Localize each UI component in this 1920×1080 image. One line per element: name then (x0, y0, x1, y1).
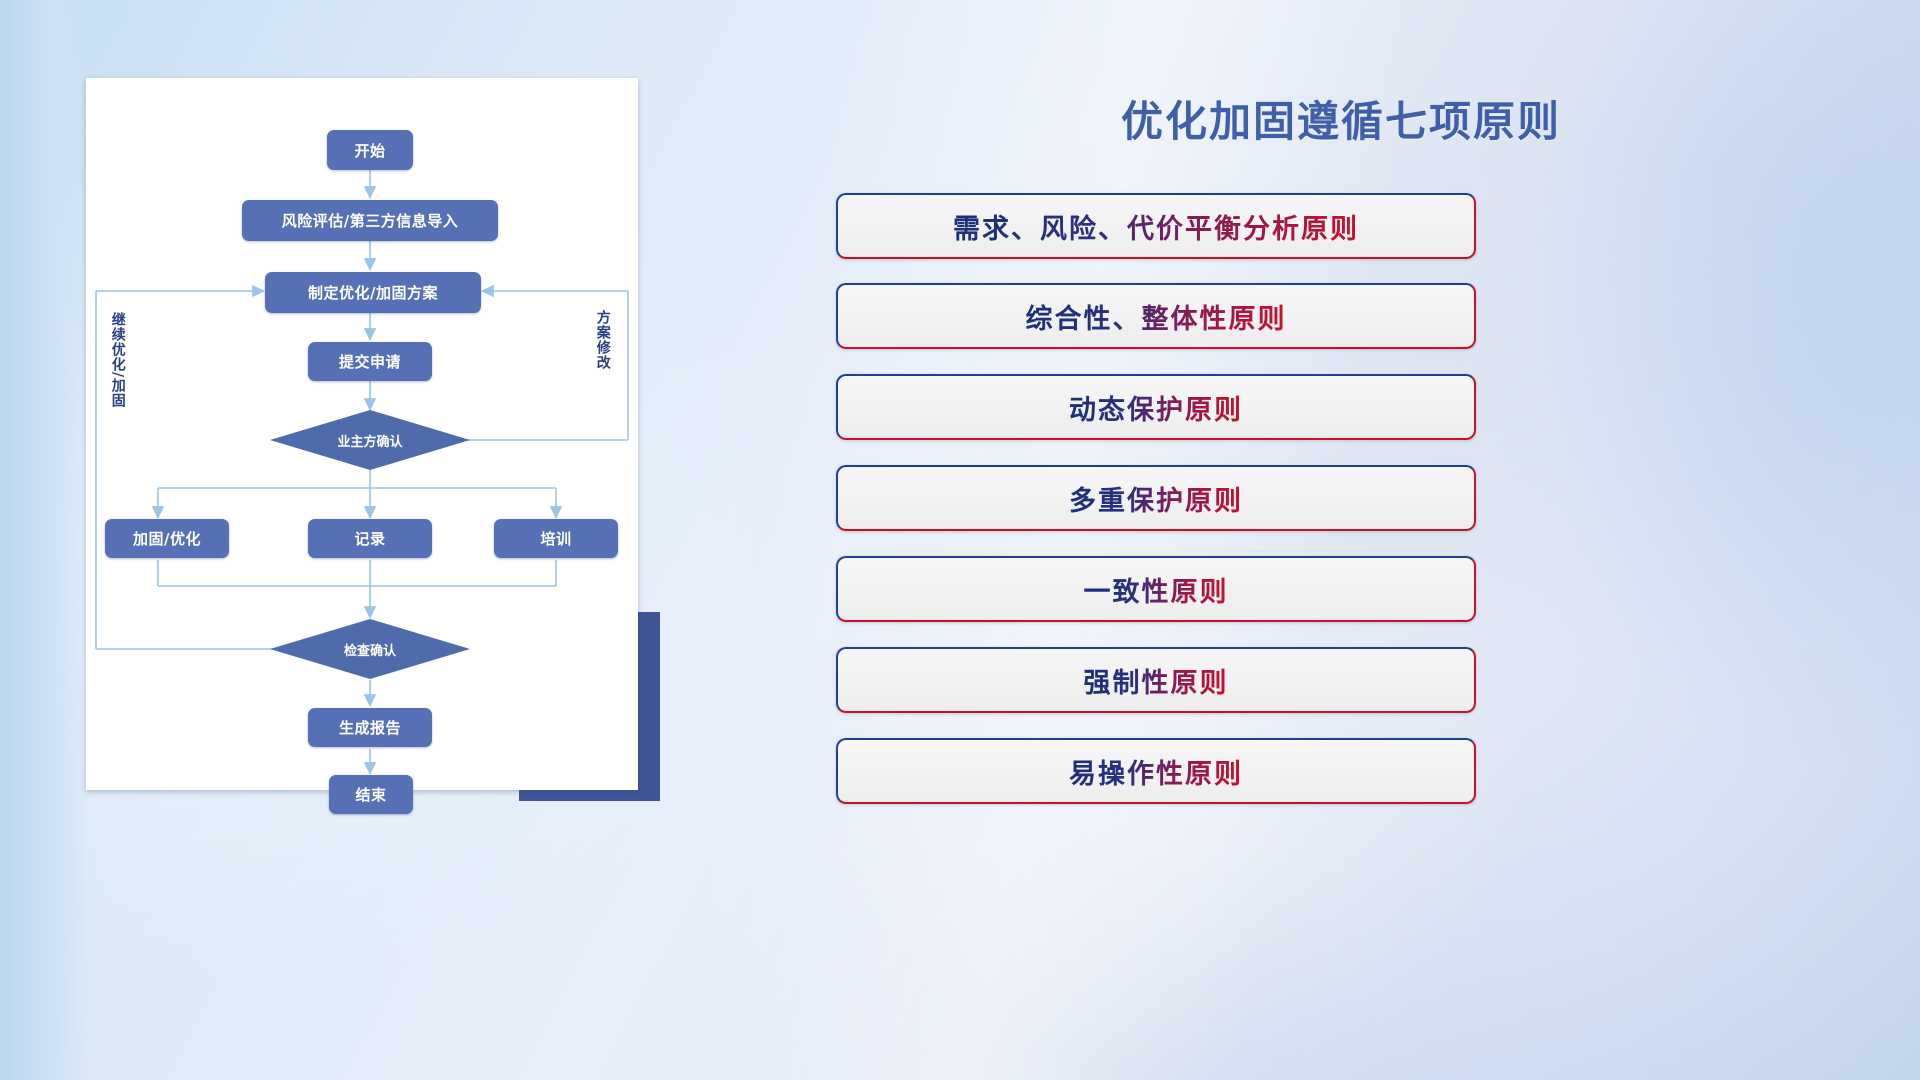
background-left-edge (0, 0, 90, 1080)
principles-panel: 优化加固遵循七项原则 需求、风险、代价平衡分析原则 综合性、整体性原则 动态保护… (836, 78, 1846, 1008)
flow-node-risk-assessment[interactable]: 风险评估/第三方信息导入 (242, 200, 498, 241)
flow-node-start[interactable]: 开始 (327, 130, 413, 170)
flow-node-label: 培训 (540, 528, 571, 549)
principle-label: 动态保护原则 (1069, 388, 1243, 427)
flow-node-label: 检查确认 (270, 619, 470, 679)
principle-item-1[interactable]: 需求、风险、代价平衡分析原则 (836, 193, 1476, 259)
flow-decision-inspection-confirm[interactable]: 检查确认 (270, 619, 470, 679)
flow-node-training[interactable]: 培训 (494, 519, 618, 558)
flow-node-generate-report[interactable]: 生成报告 (308, 708, 432, 747)
flow-node-record[interactable]: 记录 (308, 519, 432, 558)
principle-label: 易操作性原则 (1069, 752, 1243, 791)
principle-item-5[interactable]: 一致性原则 (836, 556, 1476, 622)
principle-label: 需求、风险、代价平衡分析原则 (953, 207, 1359, 246)
panel-title: 优化加固遵循七项原则 (836, 88, 1846, 149)
flow-node-end[interactable]: 结束 (329, 775, 413, 814)
flow-node-label: 提交申请 (339, 351, 401, 372)
principle-item-6[interactable]: 强制性原则 (836, 647, 1476, 713)
principle-item-4[interactable]: 多重保护原则 (836, 465, 1476, 531)
flowchart-card: 开始 风险评估/第三方信息导入 制定优化/加固方案 提交申请 业主方确认 加固/… (86, 78, 638, 790)
flow-node-submit-application[interactable]: 提交申请 (308, 342, 432, 381)
principle-label: 多重保护原则 (1069, 479, 1243, 518)
flow-node-label: 结束 (355, 784, 386, 805)
principle-label: 一致性原则 (1084, 570, 1229, 609)
flow-edge-label-plan-revision: 方案修改 (595, 310, 610, 420)
flow-node-make-plan[interactable]: 制定优化/加固方案 (265, 272, 481, 313)
flow-node-reinforce-optimize[interactable]: 加固/优化 (105, 519, 229, 558)
flow-node-label: 业主方确认 (270, 410, 470, 470)
flow-decision-owner-confirm[interactable]: 业主方确认 (270, 410, 470, 470)
flow-node-label: 加固/优化 (133, 528, 201, 549)
principle-item-7[interactable]: 易操作性原则 (836, 738, 1476, 804)
flow-edge-label-continue-optimize: 继续优化/加固 (110, 312, 125, 452)
principle-label: 综合性、整体性原则 (1026, 297, 1287, 336)
principle-item-2[interactable]: 综合性、整体性原则 (836, 283, 1476, 349)
principle-item-3[interactable]: 动态保护原则 (836, 374, 1476, 440)
flow-node-label: 制定优化/加固方案 (308, 282, 438, 303)
flow-node-label: 记录 (354, 528, 385, 549)
principle-label: 强制性原则 (1084, 661, 1229, 700)
flow-node-label: 开始 (354, 140, 385, 161)
flow-node-label: 风险评估/第三方信息导入 (282, 210, 458, 231)
flow-node-label: 生成报告 (339, 717, 401, 738)
